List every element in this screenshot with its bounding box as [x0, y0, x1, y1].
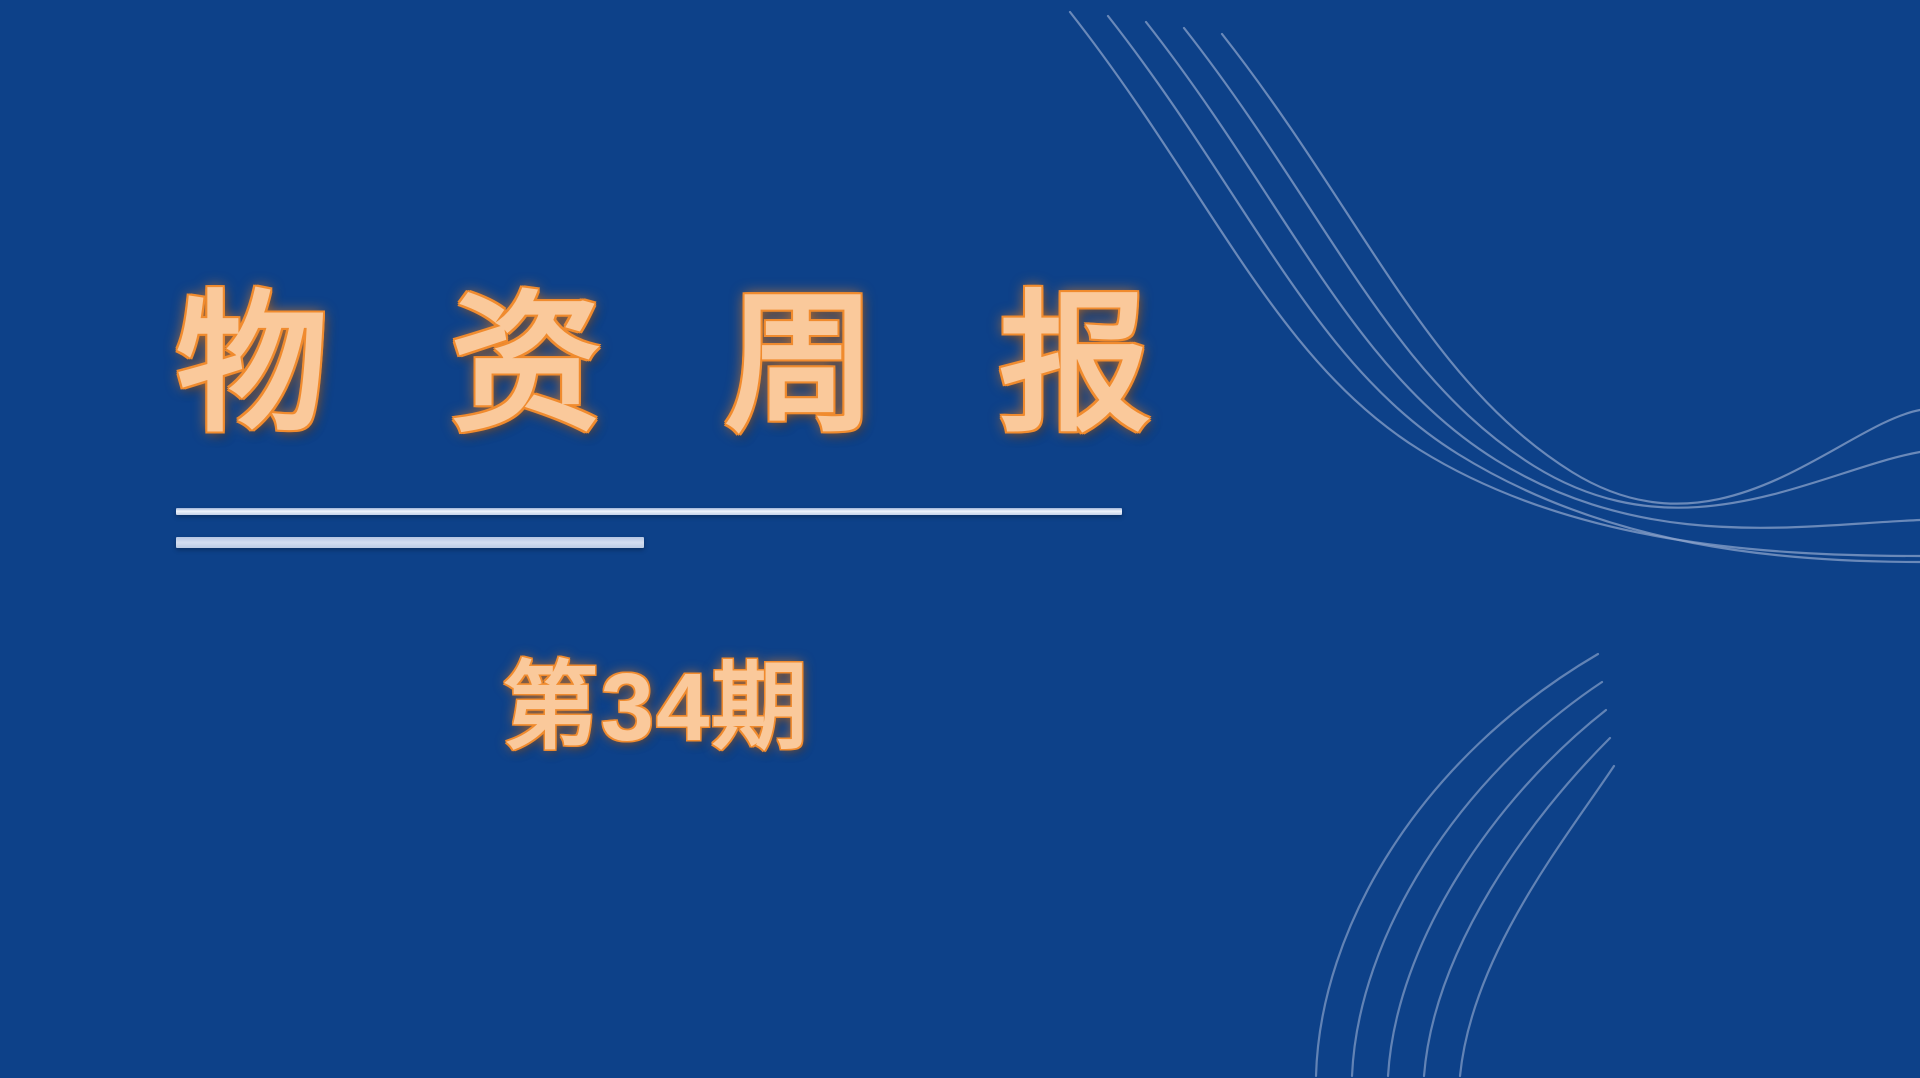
curved-lines-bottom-right-decoration	[1280, 598, 1920, 1078]
title-divider-short	[176, 537, 644, 548]
title-divider-long	[176, 508, 1122, 515]
title-block: 物 资 周 报	[176, 280, 1136, 450]
title-slide: 物 资 周 报 第34期	[0, 0, 1920, 1078]
page-title: 物 资 周 报	[176, 280, 1136, 450]
issue-subtitle: 第34期	[176, 650, 1136, 765]
